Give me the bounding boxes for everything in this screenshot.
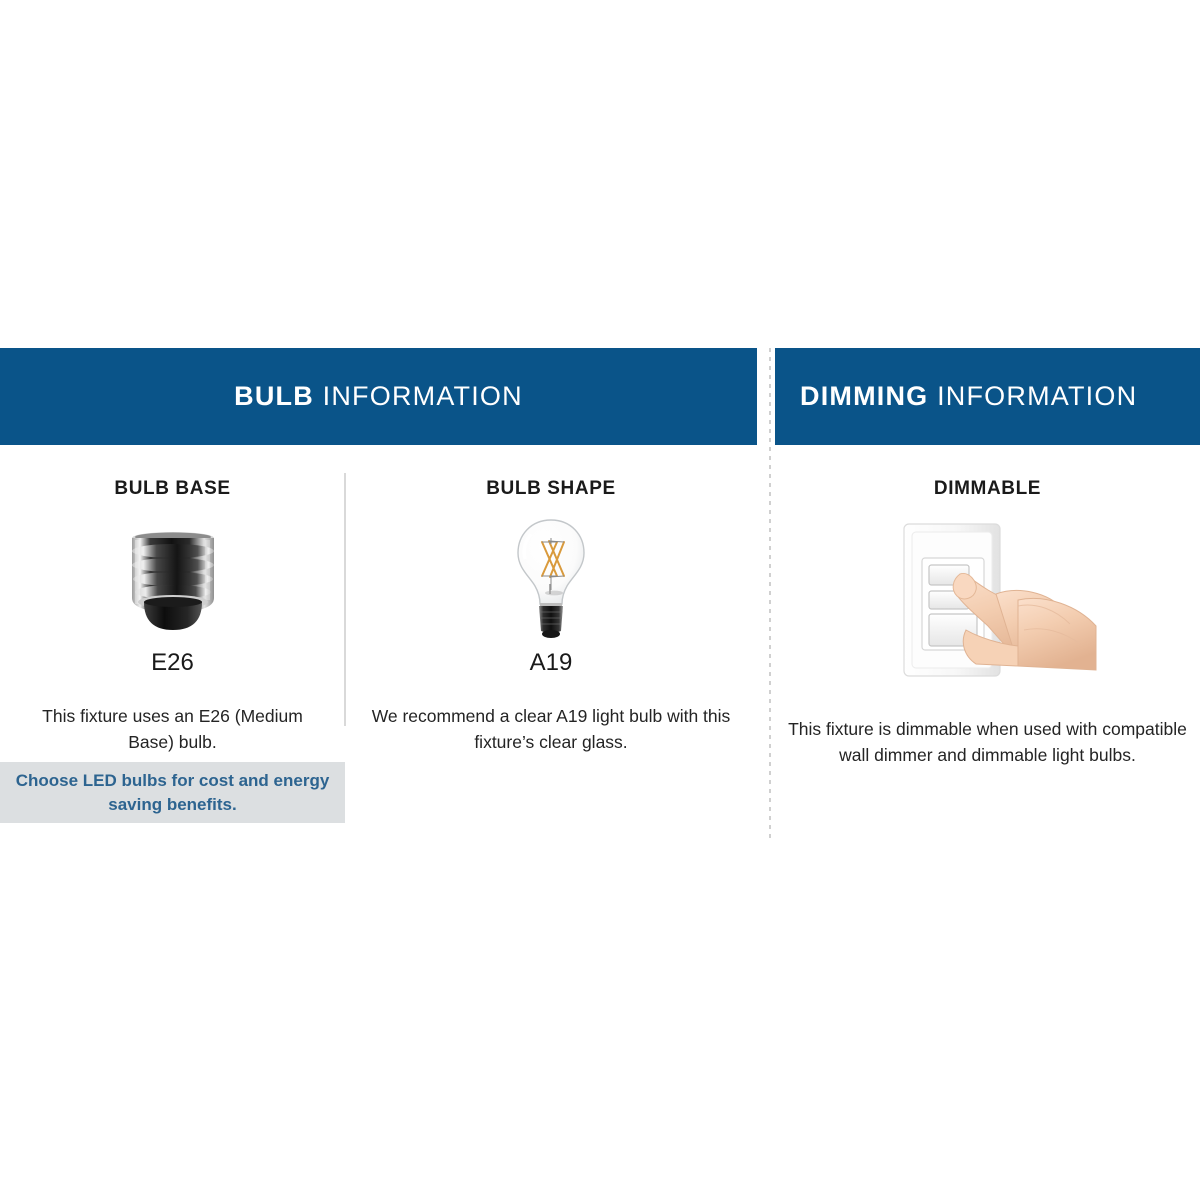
bulb-shape-title: BULB SHAPE (345, 478, 757, 500)
section-headers: BULB INFORMATION DIMMING INFORMATION (0, 348, 1200, 445)
dimming-information-title-strong: DIMMING (800, 381, 928, 411)
bulb-base-description: This fixture uses an E26 (Medium Base) b… (0, 703, 345, 755)
dimmable-title: DIMMABLE (775, 478, 1200, 500)
dimming-information-title-rest: INFORMATION (928, 381, 1137, 411)
bulb-dimming-information-page: BULB INFORMATION DIMMING INFORMATION BUL… (0, 0, 1200, 1200)
led-tip-box: Choose LED bulbs for cost and energy sav… (0, 762, 345, 823)
bulb-columns-divider (344, 473, 346, 726)
wall-dimmer-switch-icon (775, 514, 1200, 694)
dimming-information-panel: DIMMABLE (775, 445, 1200, 768)
dimming-information-header: DIMMING INFORMATION (775, 348, 1200, 445)
bulb-information-title-strong: BULB (234, 381, 314, 411)
bulb-information-title: BULB INFORMATION (234, 381, 523, 412)
bulb-shape-description: We recommend a clear A19 light bulb with… (345, 703, 757, 755)
bulb-a19-icon (345, 512, 757, 647)
bulb-information-title-rest: INFORMATION (314, 381, 523, 411)
dimming-information-title: DIMMING INFORMATION (800, 381, 1137, 412)
bulb-information-header: BULB INFORMATION (0, 348, 757, 445)
bulb-base-type-label: E26 (0, 649, 345, 677)
bulb-shape-column: BULB SHAPE (345, 445, 757, 755)
bulb-base-title: BULB BASE (0, 478, 345, 500)
bulb-base-e26-icon (0, 512, 345, 647)
bulb-shape-type-label: A19 (345, 649, 757, 677)
led-tip-text: Choose LED bulbs for cost and energy sav… (0, 769, 345, 817)
panel-dotted-divider (769, 348, 771, 838)
dimmable-description: This fixture is dimmable when used with … (775, 716, 1200, 768)
bulb-base-column: BULB BASE (0, 445, 345, 755)
